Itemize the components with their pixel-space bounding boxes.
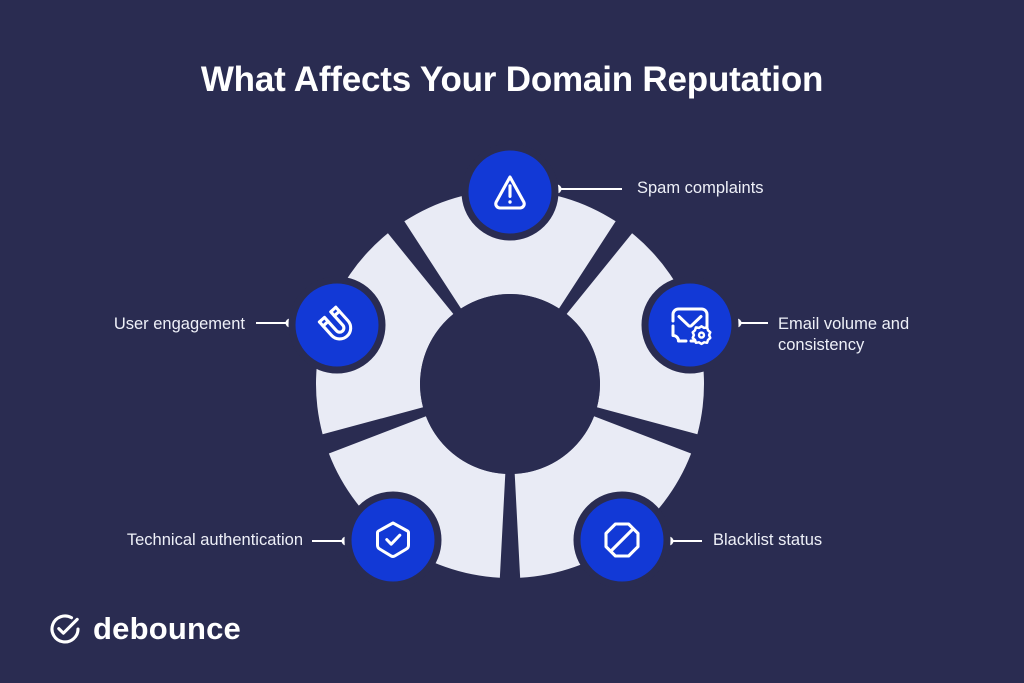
label-email-volume: Email volume and consistency: [778, 314, 953, 356]
circle-check-icon: [48, 612, 82, 646]
node-user-engagement[interactable]: [292, 280, 382, 370]
node-blacklist-status[interactable]: [577, 495, 667, 585]
node-email-volume[interactable]: [645, 280, 735, 370]
debounce-logo[interactable]: debounce: [48, 611, 241, 647]
label-technical-authentication: Technical authentication: [58, 530, 303, 551]
center-hub: [420, 294, 600, 474]
label-user-engagement: User engagement: [58, 314, 245, 335]
node-technical-authentication[interactable]: [348, 495, 438, 585]
infographic-canvas: What Affects Your Domain Reputation: [0, 0, 1024, 683]
node-spam-complaints[interactable]: [465, 147, 555, 237]
label-spam-complaints: Spam complaints: [637, 178, 764, 199]
logo-wordmark: debounce: [93, 611, 241, 647]
label-blacklist-status: Blacklist status: [713, 530, 822, 551]
